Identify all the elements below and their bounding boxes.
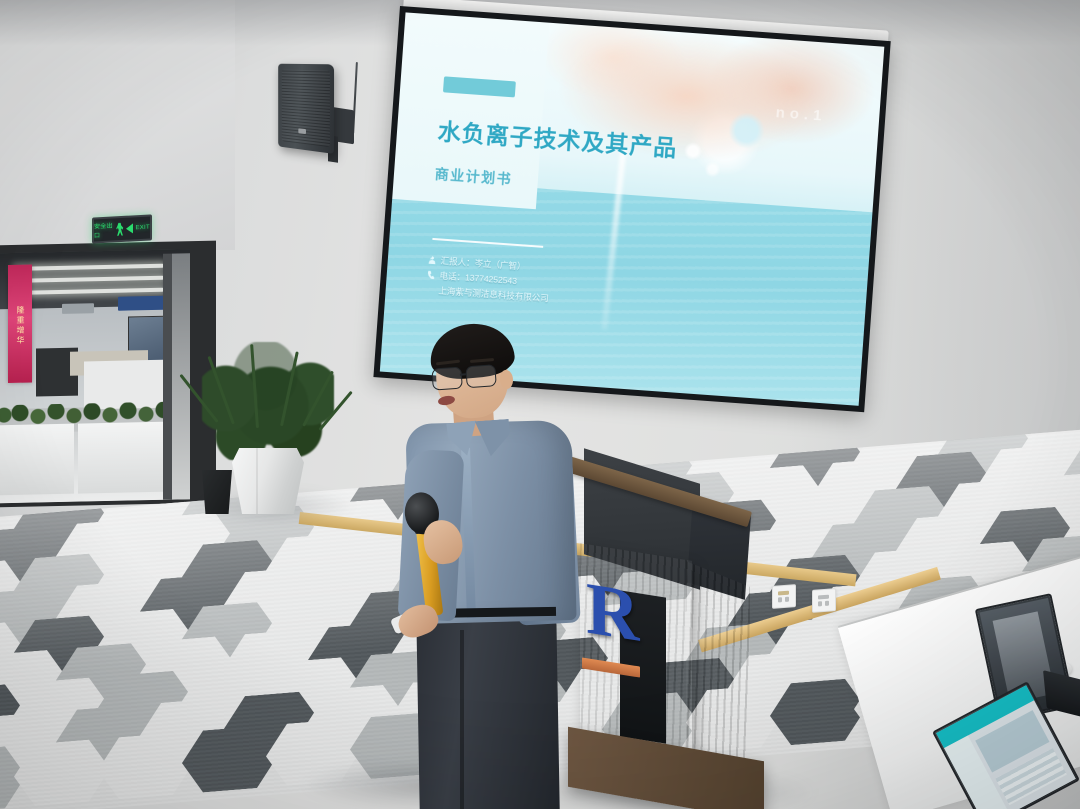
speaker-logo [298, 128, 306, 134]
planter-box-left [0, 424, 74, 496]
user-icon [428, 256, 436, 264]
lectern-logo: R [586, 569, 644, 664]
office-hedge [0, 401, 190, 433]
phone-icon [427, 271, 435, 279]
exit-sign-label-cn: 安全出口 [94, 220, 114, 239]
wall-speaker [276, 62, 368, 166]
plant-pot [232, 448, 304, 514]
doorway-frame: 隆重增华 [0, 241, 216, 508]
waste-bin [200, 470, 234, 514]
running-man-icon [116, 222, 125, 235]
wall-socket-right[interactable] [812, 588, 836, 613]
presenter-trousers [416, 611, 559, 809]
presentation-room-photo: 隆重增华 安全出口 EXIT [0, 0, 1080, 809]
lectern-body-side [686, 561, 750, 773]
presenter [392, 330, 592, 809]
exit-sign-label-en: EXIT [135, 225, 150, 232]
slide-watermark: no.1 [775, 104, 827, 125]
potted-plant [206, 342, 334, 518]
slide-contact-block: 汇报人：岑立（广智） 电话：13774252543 上海紫与测洁息科技有限公司 [426, 252, 551, 306]
arrow-left-icon [126, 223, 133, 233]
exit-sign: 安全出口 EXIT [92, 214, 152, 243]
trouser-seam [460, 630, 464, 809]
door-mullion [163, 254, 172, 500]
speaker-cabinet [278, 64, 334, 154]
doorway-opening: 隆重增华 [0, 249, 190, 503]
red-banner: 隆重增华 [8, 265, 32, 384]
planter-box-right [78, 422, 174, 494]
office-small-sign [62, 303, 94, 314]
wall-socket-left[interactable] [772, 584, 796, 609]
speaker-grille [282, 70, 330, 148]
logo-letter: R [586, 569, 644, 664]
